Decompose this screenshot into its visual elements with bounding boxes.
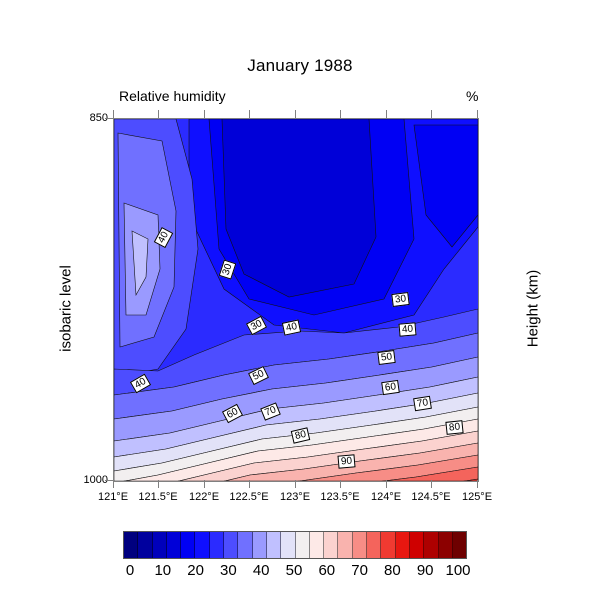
contour-plot-area: 40 30 30 40 30 40 40 50 50 60 60 70 70 8… xyxy=(113,118,479,482)
colorbar-swatch-15 xyxy=(338,532,352,558)
x-tick-top-4 xyxy=(295,110,296,118)
colorbar-swatch-23 xyxy=(453,532,466,558)
colorbar-swatch-21 xyxy=(424,532,438,558)
colorbar xyxy=(123,531,467,559)
x-tick-top-0 xyxy=(113,110,114,118)
y-tick-850 xyxy=(105,118,113,119)
x-tick-top-7 xyxy=(431,110,432,118)
colorbar-swatch-14 xyxy=(324,532,338,558)
colorbar-tick-labels: 0102030405060708090100 xyxy=(100,562,500,586)
x-tick-bottom-6 xyxy=(386,480,387,488)
colorbar-swatch-3 xyxy=(167,532,181,558)
chart-title: January 1988 xyxy=(0,56,600,76)
colorbar-swatch-8 xyxy=(238,532,252,558)
x-tick-top-2 xyxy=(204,110,205,118)
figure: January 1988 Relative humidity % isobari… xyxy=(0,0,600,600)
colorbar-swatch-17 xyxy=(367,532,381,558)
colorbar-swatch-4 xyxy=(181,532,195,558)
y-tick-label-1000: 1000 xyxy=(68,474,108,486)
colorbar-swatch-6 xyxy=(210,532,224,558)
x-tick-bottom-5 xyxy=(340,480,341,488)
x-tick-top-6 xyxy=(386,110,387,118)
colorbar-swatch-10 xyxy=(267,532,281,558)
colorbar-swatch-0 xyxy=(124,532,138,558)
colorbar-swatch-2 xyxy=(153,532,167,558)
colorbar-swatch-19 xyxy=(396,532,410,558)
colorbar-swatch-18 xyxy=(381,532,395,558)
colorbar-swatch-7 xyxy=(224,532,238,558)
contour-label: 30 xyxy=(391,292,410,307)
x-tick-top-8 xyxy=(477,110,478,118)
colorbar-swatch-22 xyxy=(439,532,453,558)
contour-label: 40 xyxy=(398,322,416,336)
contour-label: 80 xyxy=(445,420,463,435)
colorbar-swatch-9 xyxy=(253,532,267,558)
variable-label: Relative humidity xyxy=(119,88,226,104)
x-tick-bottom-3 xyxy=(249,480,250,488)
colorbar-swatch-12 xyxy=(296,532,310,558)
colorbar-tick-100: 100 xyxy=(438,562,478,579)
y-tick-1000 xyxy=(105,480,113,481)
contour-label: 70 xyxy=(413,396,432,412)
colorbar-swatch-13 xyxy=(310,532,324,558)
contour-field xyxy=(114,119,478,481)
x-tick-top-3 xyxy=(249,110,250,118)
x-tick-bottom-8 xyxy=(477,480,478,488)
y-axis-label-right: Height (km) xyxy=(525,224,542,394)
units-label: % xyxy=(466,88,478,104)
x-tick-bottom-2 xyxy=(204,480,205,488)
contour-label: 60 xyxy=(381,380,400,395)
x-tick-label-8: 125°E xyxy=(447,491,507,503)
x-tick-top-5 xyxy=(340,110,341,118)
x-tick-bottom-0 xyxy=(113,480,114,488)
x-tick-bottom-4 xyxy=(295,480,296,488)
y-axis-label-left: isobaric level xyxy=(58,229,75,389)
colorbar-swatch-20 xyxy=(410,532,424,558)
colorbar-swatch-1 xyxy=(138,532,152,558)
contour-label: 50 xyxy=(377,350,396,365)
colorbar-swatch-11 xyxy=(281,532,295,558)
contour-label: 90 xyxy=(337,454,355,468)
colorbar-swatch-5 xyxy=(195,532,209,558)
x-tick-bottom-7 xyxy=(431,480,432,488)
x-tick-bottom-1 xyxy=(158,480,159,488)
y-tick-label-850: 850 xyxy=(68,112,108,124)
x-tick-top-1 xyxy=(158,110,159,118)
colorbar-swatch-16 xyxy=(353,532,367,558)
